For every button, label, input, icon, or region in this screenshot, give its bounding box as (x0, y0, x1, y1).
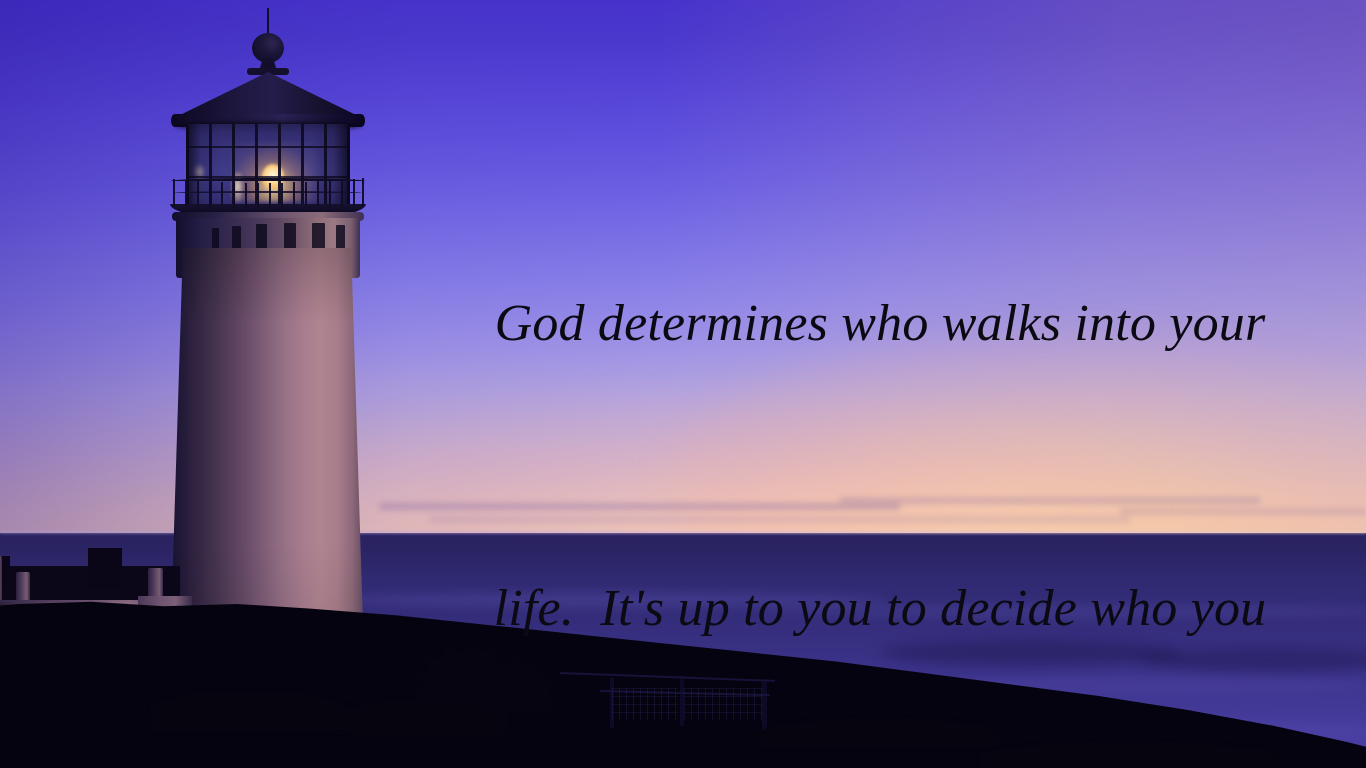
railing-baluster (257, 183, 259, 208)
railing-baluster (221, 182, 223, 207)
railing-baluster (233, 183, 235, 208)
quote-line-2: life. It's up to you to decide who you (420, 561, 1340, 656)
railing-baluster (362, 178, 364, 206)
railing-baluster (197, 181, 199, 207)
railing-baluster (305, 182, 307, 207)
grass-tuft (150, 690, 350, 732)
railing-baluster (329, 180, 331, 206)
quote-line-1: God determines who walks into your (420, 276, 1340, 371)
railing-baluster (185, 180, 187, 206)
railing-mid-rail (174, 191, 362, 193)
railing-baluster (245, 183, 247, 208)
railing-baluster (269, 183, 271, 208)
gallery-railing (171, 178, 365, 208)
railing-baluster (293, 182, 295, 207)
wallpaper-scene: God determines who walks into your life.… (0, 0, 1366, 768)
railing-baluster (341, 180, 343, 206)
railing-baluster (317, 181, 319, 207)
railing-baluster (173, 179, 175, 206)
railing-baluster (209, 182, 211, 207)
railing-baluster (281, 183, 283, 208)
quote-text-block: God determines who walks into your life.… (420, 86, 1340, 768)
railing-baluster (353, 179, 355, 206)
railing-top-rail (171, 178, 365, 181)
